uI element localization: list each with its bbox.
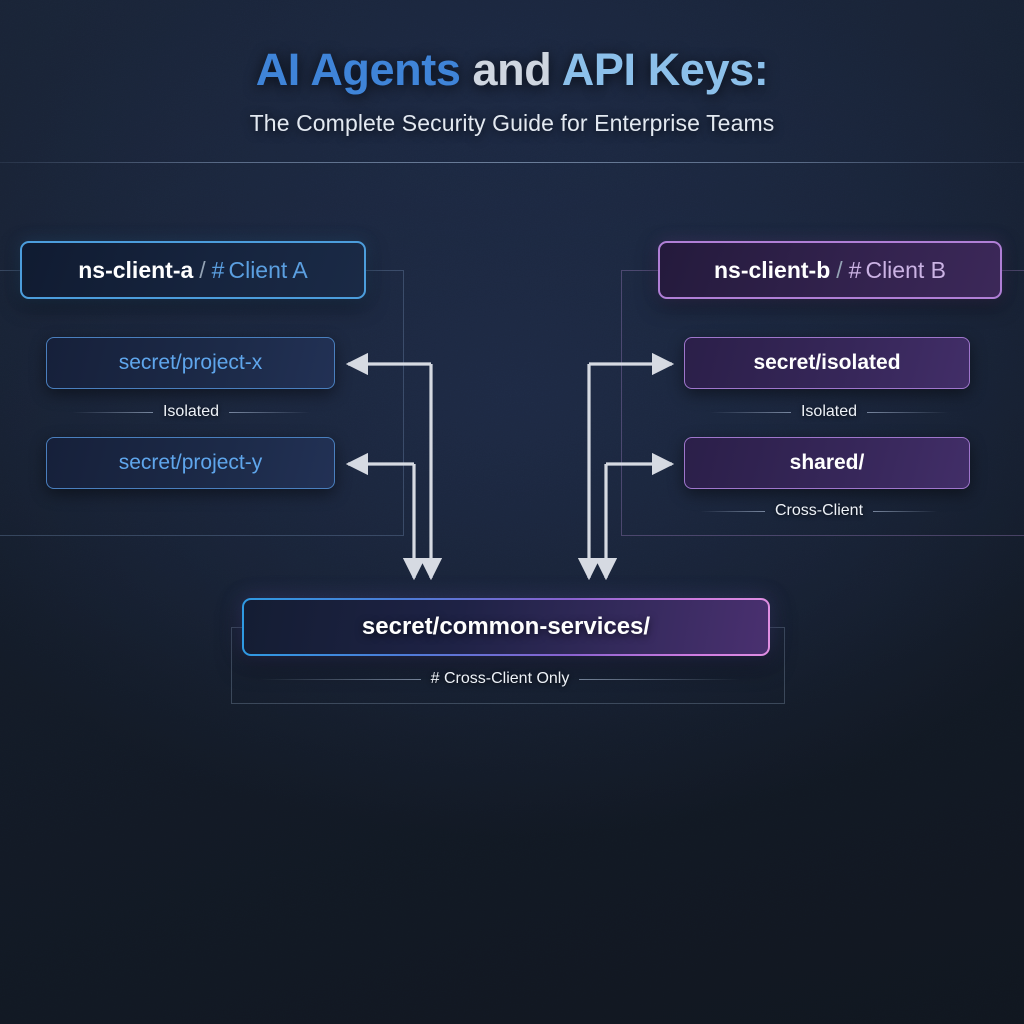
page-header: AI Agents and API Keys: The Complete Sec…: [0, 0, 1024, 162]
secret-box-project-y[interactable]: secret/project-y: [46, 437, 335, 489]
title-segment-api-keys: API Keys:: [562, 44, 768, 95]
caption-rule-right: [873, 511, 938, 512]
secret-box-project-x[interactable]: secret/project-x: [46, 337, 335, 389]
caption-isolated-client-a: Isolated: [72, 402, 310, 422]
secret-box-shared[interactable]: shared/: [684, 437, 970, 489]
header-divider: [0, 162, 1024, 163]
shared-secret-inner: secret/common-services/: [244, 600, 768, 654]
caption-text-isolated-a: Isolated: [163, 403, 219, 421]
secret-path-project-x: secret/project-x: [119, 351, 263, 375]
hash-icon-b: #: [849, 257, 862, 283]
caption-rule-right: [867, 412, 948, 413]
caption-rule-right: [579, 679, 740, 680]
caption-rule-right: [229, 412, 310, 413]
hash-icon-a: #: [212, 257, 225, 283]
caption-rule-left: [710, 412, 791, 413]
namespace-comment-text-a: Client A: [228, 257, 307, 283]
title-segment-and: and: [460, 44, 561, 95]
shared-secret-path: secret/common-services/: [362, 613, 650, 641]
namespace-comment-client-a: #Client A: [212, 257, 308, 284]
namespace-separator-a: /: [199, 257, 205, 284]
caption-isolated-client-b: Isolated: [710, 402, 948, 422]
secret-path-isolated: secret/isolated: [753, 351, 900, 375]
secret-path-project-y: secret/project-y: [119, 451, 263, 475]
namespace-comment-text-b: Client B: [865, 257, 946, 283]
shared-secret-box-common-services[interactable]: secret/common-services/: [242, 598, 770, 656]
secret-box-isolated[interactable]: secret/isolated: [684, 337, 970, 389]
page-subtitle: The Complete Security Guide for Enterpri…: [0, 110, 1024, 137]
caption-rule-left: [260, 679, 421, 680]
namespace-box-client-b[interactable]: ns-client-b / #Client B: [658, 241, 1002, 299]
caption-text-cross-client: Cross-Client: [775, 502, 863, 520]
caption-text-cross-client-only: # Cross-Client Only: [431, 670, 570, 688]
namespace-separator-b: /: [836, 257, 842, 284]
caption-cross-client: Cross-Client: [700, 501, 938, 521]
secret-path-shared: shared/: [790, 451, 865, 475]
title-segment-ai-agents: AI Agents: [256, 44, 461, 95]
caption-rule-left: [72, 412, 153, 413]
diagram-canvas: AI Agents and API Keys: The Complete Sec…: [0, 0, 1024, 1024]
namespace-box-client-a[interactable]: ns-client-a / #Client A: [20, 241, 366, 299]
namespace-name-client-a: ns-client-a: [78, 257, 193, 284]
caption-cross-client-only: # Cross-Client Only: [260, 669, 740, 689]
caption-rule-left: [700, 511, 765, 512]
caption-text-isolated-b: Isolated: [801, 403, 857, 421]
page-title: AI Agents and API Keys:: [0, 47, 1024, 92]
namespace-comment-client-b: #Client B: [849, 257, 946, 284]
namespace-name-client-b: ns-client-b: [714, 257, 830, 284]
